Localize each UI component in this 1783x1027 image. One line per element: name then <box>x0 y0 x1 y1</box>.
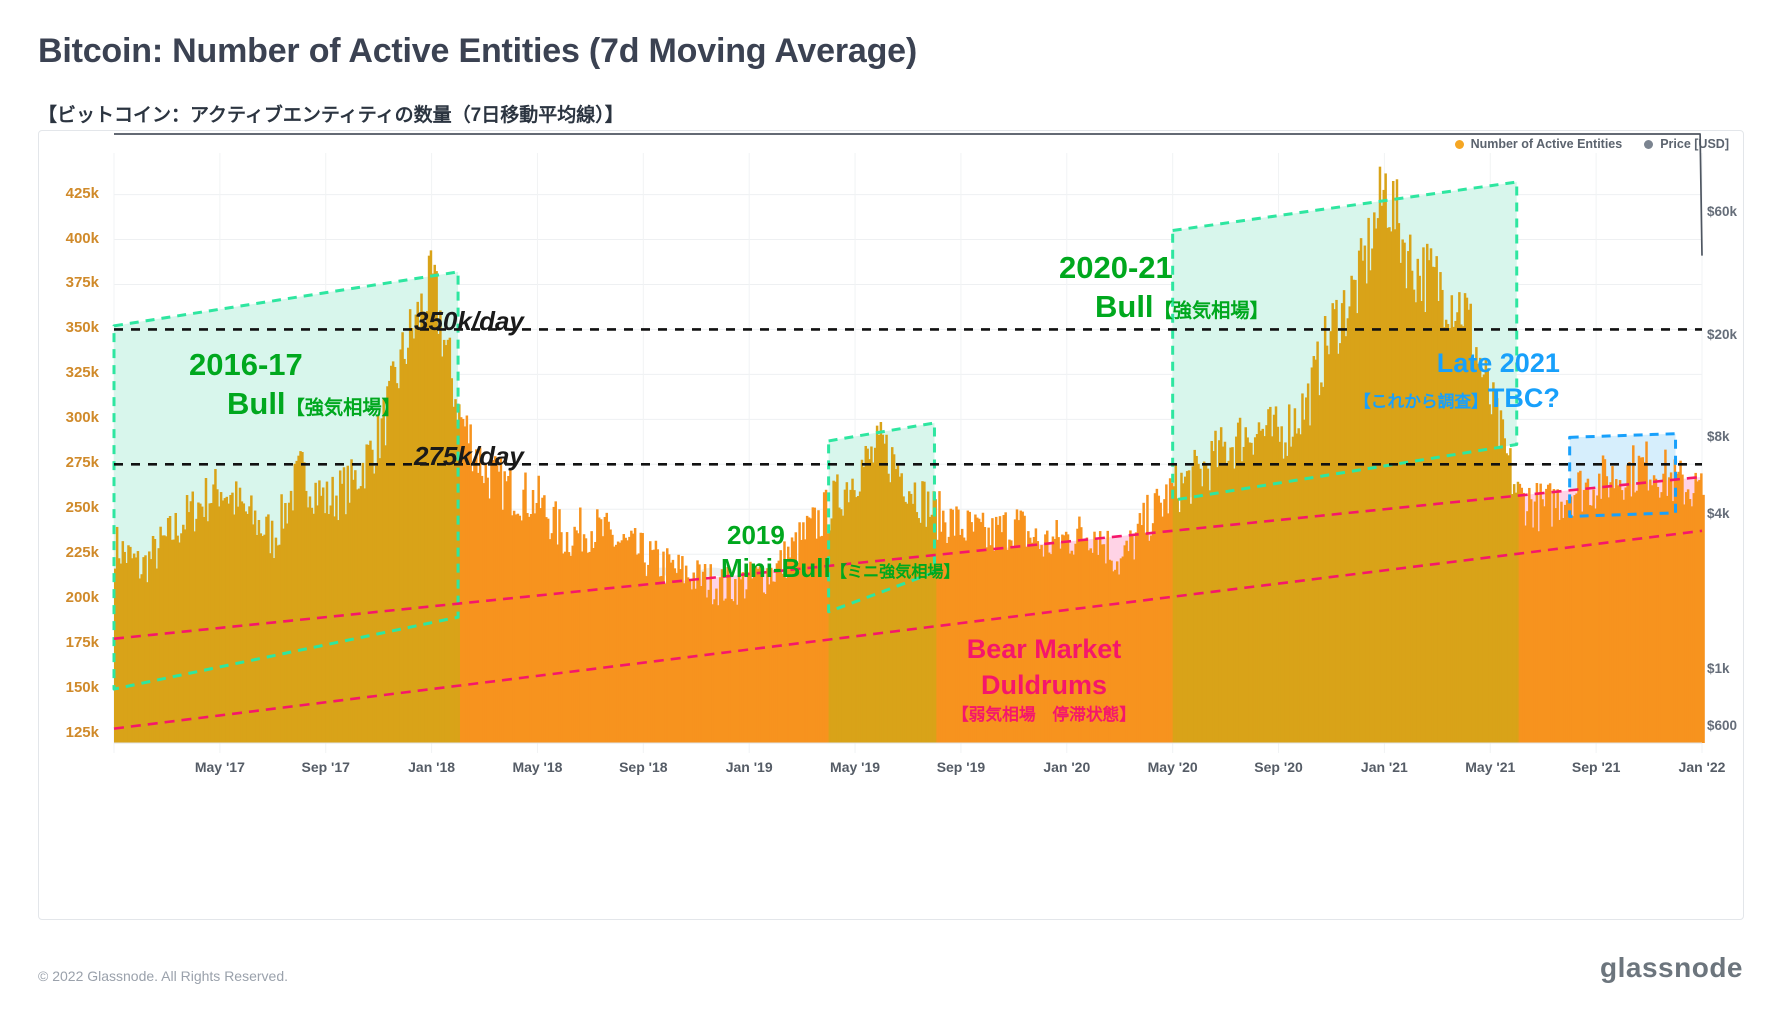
y2-tick-$60k: $60k <box>1707 204 1767 219</box>
x-tick-May17: May '17 <box>175 759 265 775</box>
x-tick-Jan18: Jan '18 <box>387 759 477 775</box>
annotation-minibull-line1: 2019 <box>727 519 960 552</box>
annotation-minibull-2019: 2019 Mini-Bull【ミニ強気相場】 <box>721 519 960 584</box>
page-title: Bitcoin: Number of Active Entities (7d M… <box>38 32 917 71</box>
x-tick-Jan19: Jan '19 <box>704 759 794 775</box>
chart-card: Number of Active Entities Price [USD] gl… <box>38 130 1744 920</box>
x-tick-Sep18: Sep '18 <box>598 759 688 775</box>
y2-tick-$20k: $20k <box>1707 327 1767 342</box>
y-tick-300k: 300k <box>47 409 99 426</box>
y-tick-425k: 425k <box>47 185 99 202</box>
x-tick-May21: May '21 <box>1445 759 1535 775</box>
chart-page: Bitcoin: Number of Active Entities (7d M… <box>0 0 1783 1027</box>
annotation-late-2021-jp: 【これから調査】 <box>1354 392 1488 411</box>
annotation-bear-line1: Bear Market <box>919 631 1169 667</box>
x-tick-Sep20: Sep '20 <box>1234 759 1324 775</box>
x-tick-Jan20: Jan '20 <box>1022 759 1112 775</box>
annotation-bull-2016: 2016-17 Bull【強気相場】 <box>189 346 401 424</box>
y-tick-250k: 250k <box>47 499 99 516</box>
y-tick-400k: 400k <box>47 230 99 247</box>
annotation-late-2021-line1: Late 2021 <box>1354 346 1560 381</box>
annotation-bull-2020-jp: 【強気相場】 <box>1154 301 1269 322</box>
x-tick-May19: May '19 <box>810 759 900 775</box>
annotation-bull-2020: 2020-21 Bull【強気相場】 <box>1059 249 1269 327</box>
y2-tick-$4k: $4k <box>1707 506 1767 521</box>
y-tick-350k: 350k <box>47 319 99 336</box>
annotation-bull-2020-line1: 2020-21 <box>1059 249 1269 288</box>
page-subtitle: 【ビットコイン：アクティブエンティティの数量（7日移動平均線）】 <box>38 100 624 127</box>
x-tick-May20: May '20 <box>1128 759 1218 775</box>
y-tick-275k: 275k <box>47 454 99 471</box>
footer-brand: glassnode <box>1600 952 1743 984</box>
annotation-bear-market: Bear Market Duldrums 【弱気相場 停滞状態】 <box>919 631 1169 726</box>
annotation-bull-2020-line2: Bull <box>1095 289 1154 324</box>
annotation-minibull-line2: Mini-Bull <box>721 553 831 583</box>
annotation-bull-2016-jp: 【強気相場】 <box>286 398 401 419</box>
x-tick-Sep19: Sep '19 <box>916 759 1006 775</box>
y-tick-175k: 175k <box>47 634 99 651</box>
annotation-bear-line2: Duldrums <box>919 667 1169 703</box>
annotation-threshold-275: 275k/day <box>414 441 524 472</box>
annotation-bull-2016-line2: Bull <box>227 386 286 421</box>
y-tick-150k: 150k <box>47 679 99 696</box>
annotation-minibull-jp: 【ミニ強気相場】 <box>831 563 960 581</box>
y-tick-325k: 325k <box>47 364 99 381</box>
annotation-late-2021-line2: TBC? <box>1488 383 1560 413</box>
y-tick-125k: 125k <box>47 724 99 741</box>
annotation-bull-2016-line1: 2016-17 <box>189 346 401 385</box>
annotation-bear-jp: 【弱気相場 停滞状態】 <box>919 704 1169 727</box>
y-tick-225k: 225k <box>47 544 99 561</box>
footer-copyright: © 2022 Glassnode. All Rights Reserved. <box>38 968 288 984</box>
x-tick-May18: May '18 <box>492 759 582 775</box>
x-tick-Sep21: Sep '21 <box>1551 759 1641 775</box>
annotation-threshold-350: 350k/day <box>414 306 524 337</box>
y2-tick-$8k: $8k <box>1707 429 1767 444</box>
y-tick-200k: 200k <box>47 589 99 606</box>
y2-tick-$600: $600 <box>1707 718 1767 733</box>
y-tick-375k: 375k <box>47 274 99 291</box>
x-tick-Jan22: Jan '22 <box>1657 759 1747 775</box>
annotation-late-2021: Late 2021 【これから調査】TBC? <box>1354 346 1560 416</box>
x-tick-Jan21: Jan '21 <box>1339 759 1429 775</box>
y2-tick-$1k: $1k <box>1707 661 1767 676</box>
x-tick-Sep17: Sep '17 <box>281 759 371 775</box>
